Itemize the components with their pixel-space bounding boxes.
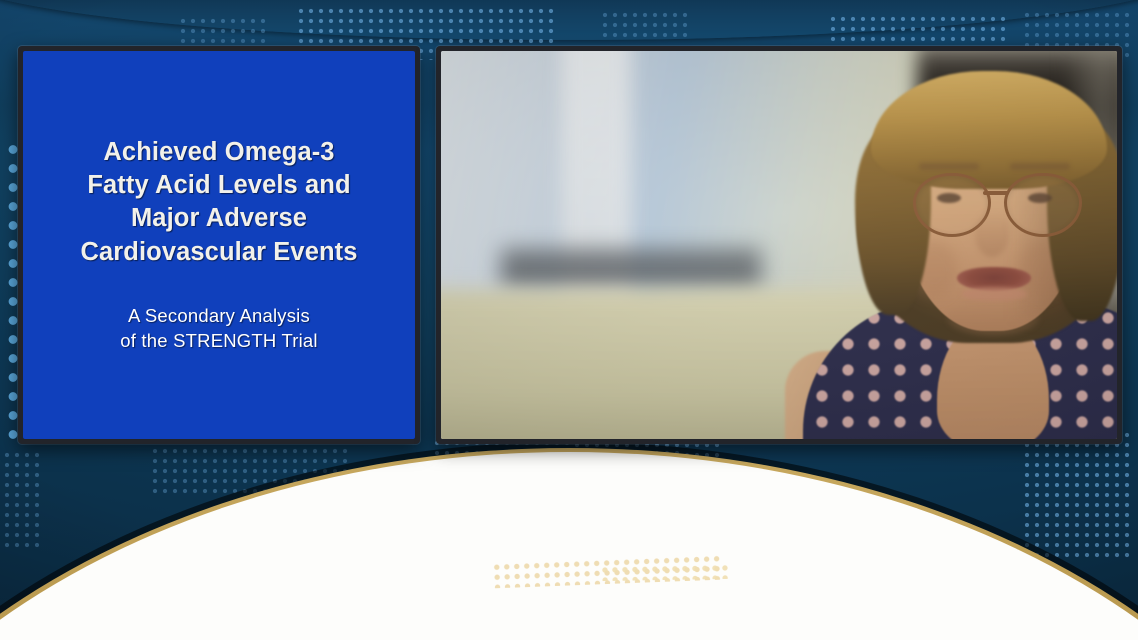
speaker-video-panel[interactable]	[436, 46, 1122, 444]
apron-gold-dots-highlight	[600, 563, 730, 581]
slide-title: Achieved Omega-3 Fatty Acid Levels and M…	[70, 136, 367, 269]
video-panel-inner	[441, 51, 1117, 439]
presentation-slide: Achieved Omega-3 Fatty Acid Levels and M…	[23, 51, 415, 439]
webinar-stage: Achieved Omega-3 Fatty Acid Levels and M…	[0, 0, 1138, 640]
video-color-grade	[441, 51, 1117, 439]
slide-panel[interactable]: Achieved Omega-3 Fatty Acid Levels and M…	[18, 46, 420, 444]
speaker-video-feed[interactable]	[441, 51, 1117, 439]
slide-panel-inner: Achieved Omega-3 Fatty Acid Levels and M…	[23, 51, 415, 439]
slide-subtitle: A Secondary Analysis of the STRENGTH Tri…	[110, 303, 327, 354]
